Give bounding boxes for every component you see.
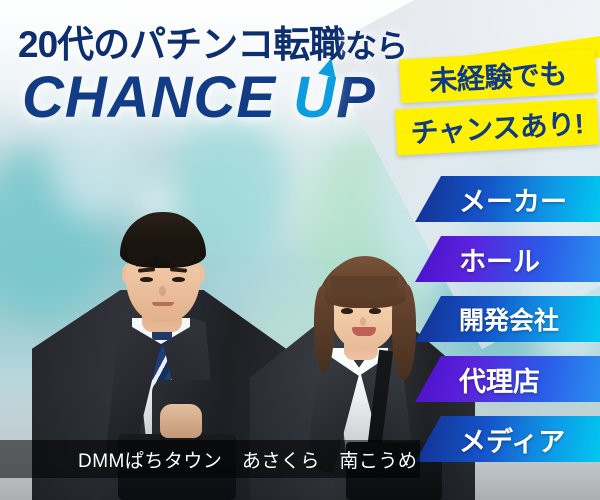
tag-agency[interactable]: 代理店 — [415, 356, 600, 402]
badge-label: チャンスあり! — [410, 102, 585, 152]
tag-development-company[interactable]: 開発会社 — [415, 296, 600, 342]
logo-letter-u: U — [293, 64, 336, 131]
nose — [159, 286, 166, 296]
page-title: 20代のパチンコ転職なら — [18, 14, 407, 68]
badge-label: 未経験でも — [428, 52, 568, 100]
mouth — [352, 327, 376, 336]
caption-bar: DMMぱちタウン あさくら 南こうめ — [0, 440, 420, 478]
tag-label: 代理店 — [459, 360, 540, 399]
nose — [360, 317, 366, 326]
brand-logo: CHANCE UP — [22, 64, 376, 131]
tag-label: メディア — [459, 420, 565, 459]
logo-letter-p: P — [336, 65, 376, 130]
headline-main: 20代のパチンコ転職 — [18, 24, 345, 65]
recruitment-banner: 20代のパチンコ転職なら CHANCE UP 未経験でも チャンスあり! メーカ… — [0, 0, 600, 500]
eye-left — [140, 277, 153, 282]
caption-text: DMMぱちタウン あさくら 南こうめ — [78, 446, 417, 473]
headline-suffix: なら — [345, 28, 407, 64]
eye-right — [172, 277, 185, 282]
tag-maker[interactable]: メーカー — [415, 176, 600, 222]
eye-right — [369, 308, 381, 314]
tag-label: ホール — [459, 240, 540, 279]
tag-media[interactable]: メディア — [415, 416, 600, 462]
tag-hall[interactable]: ホール — [415, 236, 600, 282]
eye-left — [341, 308, 353, 314]
logo-word-chance: CHANCE — [22, 65, 276, 130]
tag-label: 開発会社 — [459, 301, 559, 337]
tag-label: メーカー — [459, 180, 567, 219]
mouth — [152, 302, 174, 306]
job-category-list: メーカー ホール 開発会社 代理店 メディア — [415, 176, 600, 476]
